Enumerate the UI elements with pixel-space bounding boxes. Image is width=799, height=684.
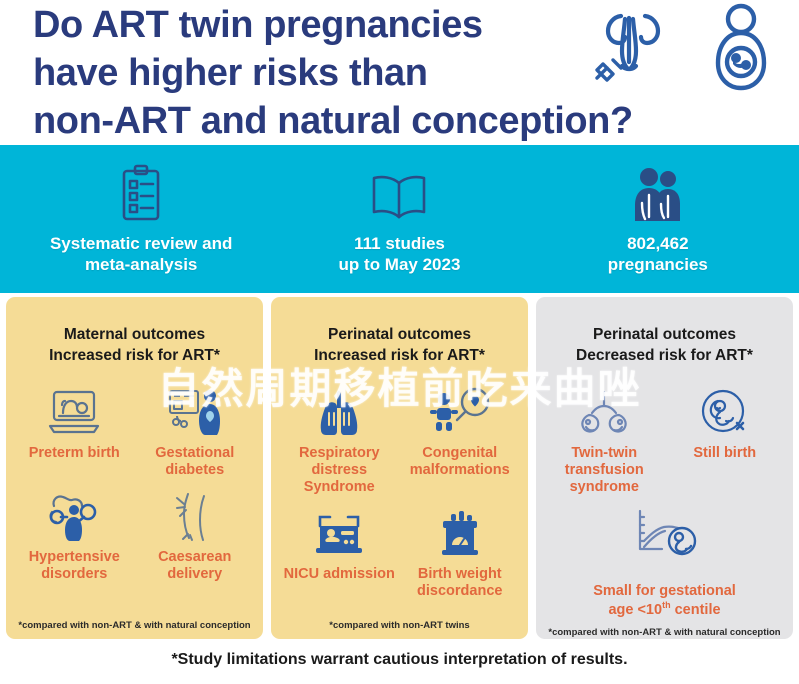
outcome-label-line-1: Small for gestational age <10th centile [593, 583, 736, 618]
header: Do ART twin pregnancies have higher risk… [0, 0, 799, 145]
stat-label: 802,462 pregnancies [529, 233, 787, 276]
ultrasound-monitor-icon [16, 383, 133, 441]
stillbirth-fetus-icon [667, 383, 784, 441]
outcome-preterm-birth: Preterm birth [14, 383, 135, 479]
outcome-grid: Respiratory distress Syndrome [279, 367, 520, 620]
outcome-label: Hypertensive disorders [16, 549, 133, 583]
title-line-1: Do ART twin pregnancies [33, 2, 613, 50]
blood-pressure-pregnant-icon [16, 487, 133, 545]
panel-heading: Maternal outcomes Increased risk for ART… [14, 325, 255, 367]
stat-label: 111 studies up to May 2023 [270, 233, 528, 276]
outcome-label: Still birth [667, 445, 784, 462]
title-line-3: non-ART and natural conception? [33, 98, 613, 146]
baby-heart-magnifier-icon [402, 383, 519, 441]
title-line-2: have higher risks than [33, 50, 613, 98]
pregnant-woman-twins-icon [700, 2, 782, 99]
panel-perinatal-decreased: Perinatal outcomes Decreased risk for AR… [536, 297, 793, 639]
baby-scale-icon [402, 504, 519, 562]
page-title: Do ART twin pregnancies have higher risk… [33, 2, 613, 146]
outcome-small-for-gestational-age: Small for gestational age <10th centile [544, 504, 785, 619]
outcome-label: Preterm birth [16, 445, 133, 462]
outcome-hypertensive-disorders: Hypertensive disorders [14, 487, 135, 583]
outcome-respiratory-distress: Respiratory distress Syndrome [279, 383, 400, 496]
outcome-label: Caesarean delivery [137, 549, 254, 583]
twin-fetuses-placenta-icon [546, 383, 663, 441]
panel-perinatal-increased: Perinatal outcomes Increased risk for AR… [271, 297, 528, 639]
growth-chart-fetus-icon [546, 504, 783, 562]
incubator-icon [281, 504, 398, 562]
panel-heading: Perinatal outcomes Decreased risk for AR… [544, 325, 785, 367]
outcome-label: Twin-twin transfusion syndrome [546, 445, 663, 496]
study-limitations-note: *Study limitations warrant cautious inte… [0, 639, 799, 669]
panel-maternal-outcomes: Maternal outcomes Increased risk for ART… [6, 297, 263, 639]
glucose-test-pregnant-icon [137, 383, 254, 441]
outcome-grid: Twin-twin transfusion syndrome [544, 367, 785, 627]
lungs-icon [281, 383, 398, 441]
two-people-icon [529, 163, 787, 225]
outcome-label: Congenital malformations [402, 445, 519, 479]
outcome-birth-weight-discordance: Birth weight discordance [400, 504, 521, 600]
outcome-caesarean-delivery: Caesarean delivery [135, 487, 256, 583]
stat-pregnancies-count: 802,462 pregnancies [529, 163, 787, 276]
outcome-nicu-admission: NICU admission [279, 504, 400, 600]
outcome-gestational-diabetes: Gestational diabetes [135, 383, 256, 479]
outcome-grid: Preterm birth [14, 367, 255, 620]
panel-footnote: *compared with non-ART & with natural co… [14, 620, 255, 633]
stat-systematic-review: Systematic review and meta-analysis [12, 163, 270, 276]
panel-footnote: *compared with non-ART & with natural co… [544, 627, 785, 640]
uterus-syringe-icon [583, 2, 675, 99]
header-icon-group [575, 2, 785, 97]
outcome-congenital-malformations: Congenital malformations [400, 383, 521, 496]
outcome-label: Respiratory distress Syndrome [281, 445, 398, 496]
outcome-label: NICU admission [281, 566, 398, 583]
outcome-label: Small for gestational age <10th centile [546, 566, 783, 619]
outcome-panels: Maternal outcomes Increased risk for ART… [0, 293, 799, 639]
outcome-label: Birth weight discordance [402, 566, 519, 600]
stat-label: Systematic review and meta-analysis [12, 233, 270, 276]
clipboard-checklist-icon [12, 163, 270, 225]
outcome-label: Gestational diabetes [137, 445, 254, 479]
open-book-icon [270, 163, 528, 225]
panel-footnote: *compared with non-ART twins [279, 620, 520, 633]
stats-band: Systematic review and meta-analysis 111 … [0, 145, 799, 293]
panel-heading: Perinatal outcomes Increased risk for AR… [279, 325, 520, 367]
caesarean-incision-icon [137, 487, 254, 545]
stat-studies-count: 111 studies up to May 2023 [270, 163, 528, 276]
outcome-still-birth: Still birth [665, 383, 786, 496]
outcome-twin-twin-transfusion: Twin-twin transfusion syndrome [544, 383, 665, 496]
